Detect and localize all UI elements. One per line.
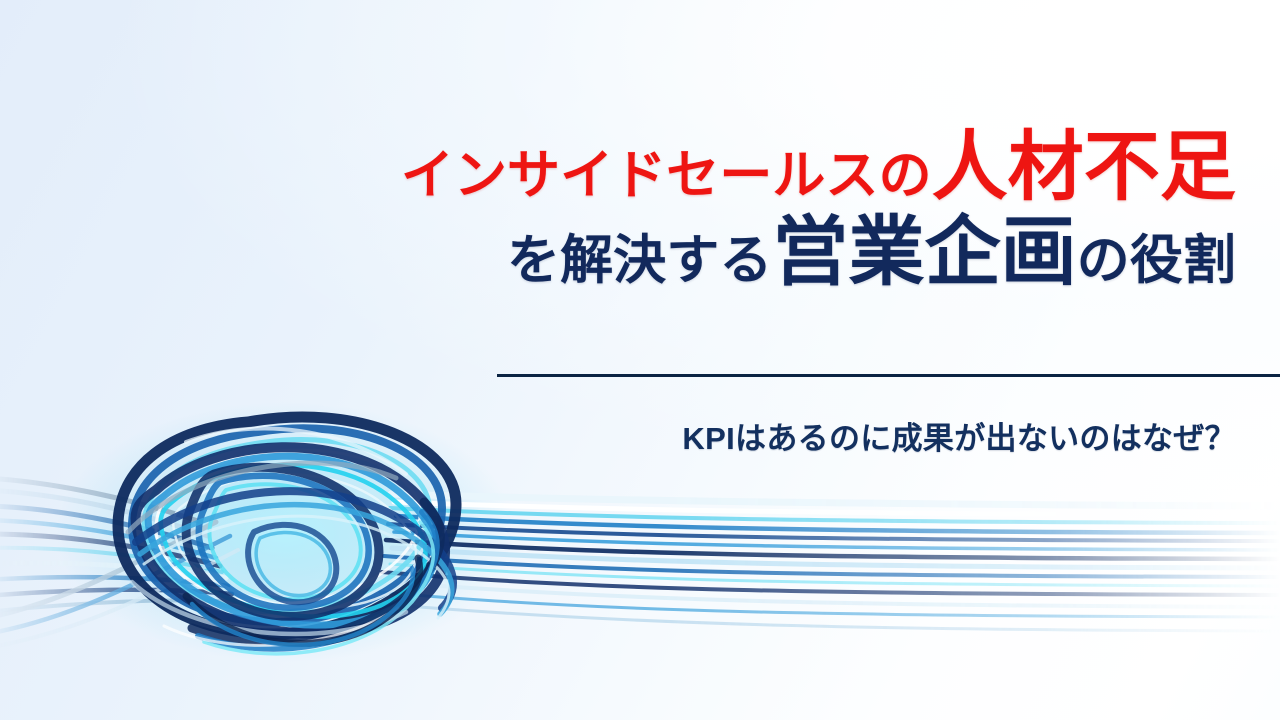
title-line-1: インサイドセールスの人材不足 (236, 128, 1236, 207)
right-streaming-strands (380, 494, 1280, 631)
subtitle: KPIはあるのに成果が出ないのはなぜ？ (236, 413, 1236, 458)
title-line2-segment-1: を解決する (507, 231, 772, 290)
title-line2-segment-3: の役割 (1077, 231, 1236, 290)
title-line1-segment-1: インサイドセールスの (401, 146, 932, 205)
hero-banner: インサイドセールスの人材不足 を解決する営業企画の役割 KPIはあるのに成果が出… (0, 0, 1280, 720)
title-line1-segment-2-emphasis: 人材不足 (932, 125, 1236, 210)
title-line2-segment-2-emphasis: 営業企画 (772, 210, 1076, 295)
headline-block: インサイドセールスの人材不足 を解決する営業企画の役割 (236, 128, 1236, 292)
title-line-2: を解決する営業企画の役割 (236, 213, 1236, 292)
title-divider (497, 374, 1280, 377)
left-streaming-strands (0, 478, 238, 648)
